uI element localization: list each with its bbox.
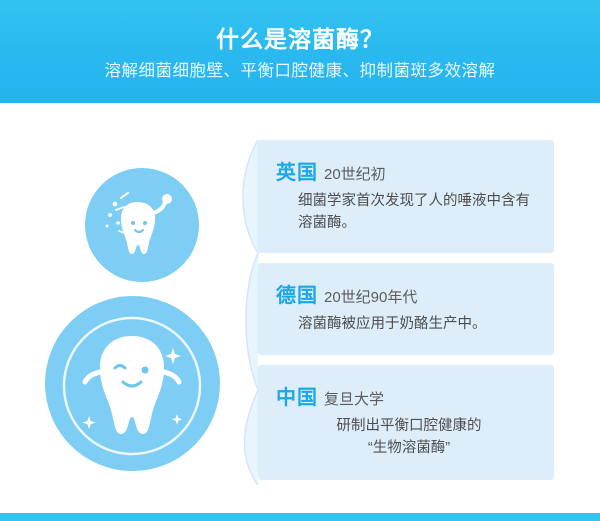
country-label: 德国 bbox=[276, 285, 318, 307]
page-title: 什么是溶菌酶？ bbox=[0, 20, 600, 54]
infographic-page: 什么是溶菌酶？ 溶解细菌细胞壁、平衡口腔健康、抑制菌斑多效溶解 bbox=[0, 0, 600, 521]
timeline-card-uk: 英国20世纪初 细菌学家首次发现了人的唾液中含有溶菌酶。 bbox=[258, 140, 554, 253]
country-label: 中国 bbox=[276, 387, 318, 409]
period-label: 20世纪初 bbox=[324, 166, 386, 183]
tooth-waving-icon bbox=[85, 168, 199, 282]
country-label: 英国 bbox=[276, 162, 318, 184]
card-header: 英国20世纪初 bbox=[276, 156, 386, 185]
timeline-card-germany: 德国20世纪90年代 溶菌酶被应用于奶酪生产中。 bbox=[258, 263, 554, 355]
timeline-card-china: 中国复旦大学 研制出平衡口腔健康的 “生物溶菌酶” bbox=[258, 365, 554, 480]
card-header: 德国20世纪90年代 bbox=[276, 279, 417, 308]
header-banner: 什么是溶菌酶？ 溶解细菌细胞壁、平衡口腔健康、抑制菌斑多效溶解 bbox=[0, 0, 600, 103]
card-header: 中国复旦大学 bbox=[276, 381, 384, 410]
footer-accent-bar bbox=[0, 513, 600, 521]
tooth-winking-icon bbox=[45, 296, 220, 471]
period-label: 复旦大学 bbox=[324, 391, 384, 408]
page-subtitle: 溶解细菌细胞壁、平衡口腔健康、抑制菌斑多效溶解 bbox=[0, 57, 600, 81]
card-body-text: 细菌学家首次发现了人的唾液中含有溶菌酶。 bbox=[298, 190, 538, 234]
tooth-waving-circle bbox=[85, 168, 199, 282]
tooth-winking-circle bbox=[45, 296, 220, 471]
period-label: 20世纪90年代 bbox=[324, 289, 417, 306]
card-body-text: 溶菌酶被应用于奶酪生产中。 bbox=[298, 313, 538, 335]
card-body-text: 研制出平衡口腔健康的 “生物溶菌酶” bbox=[286, 415, 532, 459]
